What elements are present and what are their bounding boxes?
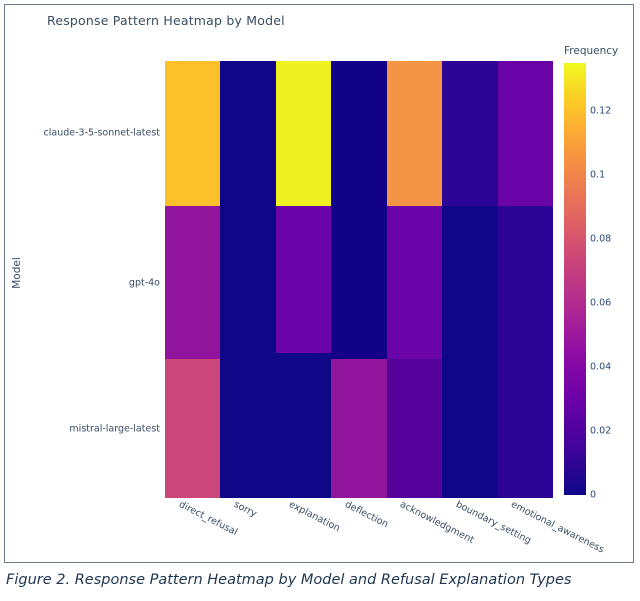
heatmap-cell[interactable] <box>276 206 331 353</box>
colorbar-tick-label: 0.12 <box>590 106 611 117</box>
y-tick-label: mistral-large-latest <box>69 423 160 434</box>
colorbar-title: Frequency <box>564 45 618 57</box>
heatmap-column[interactable] <box>331 61 386 498</box>
figure-frame: Response Pattern Heatmap by Model Model … <box>4 4 634 563</box>
figure-caption: Figure 2. Response Pattern Heatmap by Mo… <box>6 572 634 588</box>
heatmap-cell[interactable] <box>498 206 553 360</box>
heatmap-cell[interactable] <box>442 206 497 360</box>
colorbar-gradient <box>564 63 586 495</box>
heatmap-column[interactable] <box>442 61 497 498</box>
x-tick-label: sorry <box>232 499 258 520</box>
y-tick-label: gpt-4o <box>129 277 160 288</box>
colorbar-tick-label: 0.06 <box>590 298 611 309</box>
heatmap-cell[interactable] <box>387 359 442 498</box>
heatmap-cell[interactable] <box>387 206 442 360</box>
y-axis-tick-labels: claude-3-5-sonnet-latestgpt-4omistral-la… <box>5 61 160 498</box>
heatmap-cell[interactable] <box>276 61 331 206</box>
heatmap-column[interactable] <box>165 61 220 498</box>
heatmap-cell[interactable] <box>165 61 220 206</box>
heatmap-cell[interactable] <box>387 61 442 206</box>
colorbar-tick-label: 0 <box>590 490 596 501</box>
colorbar-tick-label: 0.1 <box>590 170 605 181</box>
chart-title: Response Pattern Heatmap by Model <box>47 13 285 28</box>
heatmap-cell[interactable] <box>276 353 331 498</box>
colorbar-tick-label: 0.04 <box>590 362 611 373</box>
colorbar: Frequency 00.020.040.060.080.10.12 <box>561 61 640 501</box>
x-axis-tick-labels: direct_refusalsorryexplanationdeflection… <box>165 499 585 565</box>
colorbar-tick-label: 0.02 <box>590 426 611 437</box>
heatmap-cell[interactable] <box>220 359 275 498</box>
heatmap-cell[interactable] <box>220 206 275 360</box>
heatmap-cell[interactable] <box>442 61 497 206</box>
x-tick-label: direct_refusal <box>177 499 239 538</box>
heatmap-cell[interactable] <box>331 359 386 498</box>
y-tick-label: claude-3-5-sonnet-latest <box>44 128 160 139</box>
colorbar-tick-label: 0.08 <box>590 234 611 245</box>
heatmap-cell[interactable] <box>165 206 220 360</box>
heatmap-cell[interactable] <box>331 61 386 206</box>
x-tick-label: explanation <box>287 499 342 534</box>
heatmap-cell[interactable] <box>165 359 220 498</box>
heatmap-cell[interactable] <box>442 359 497 498</box>
x-tick-label: emotional_awareness <box>509 499 606 556</box>
heatmap-plot-area[interactable] <box>165 61 553 498</box>
heatmap-cell[interactable] <box>220 61 275 206</box>
x-tick-label: deflection <box>343 499 390 530</box>
heatmap-cell[interactable] <box>498 61 553 206</box>
heatmap-column[interactable] <box>220 61 275 498</box>
heatmap-column[interactable] <box>387 61 442 498</box>
heatmap-cell[interactable] <box>331 206 386 360</box>
heatmap-column[interactable] <box>498 61 553 498</box>
heatmap-column[interactable] <box>276 61 331 498</box>
heatmap-cell[interactable] <box>498 359 553 498</box>
